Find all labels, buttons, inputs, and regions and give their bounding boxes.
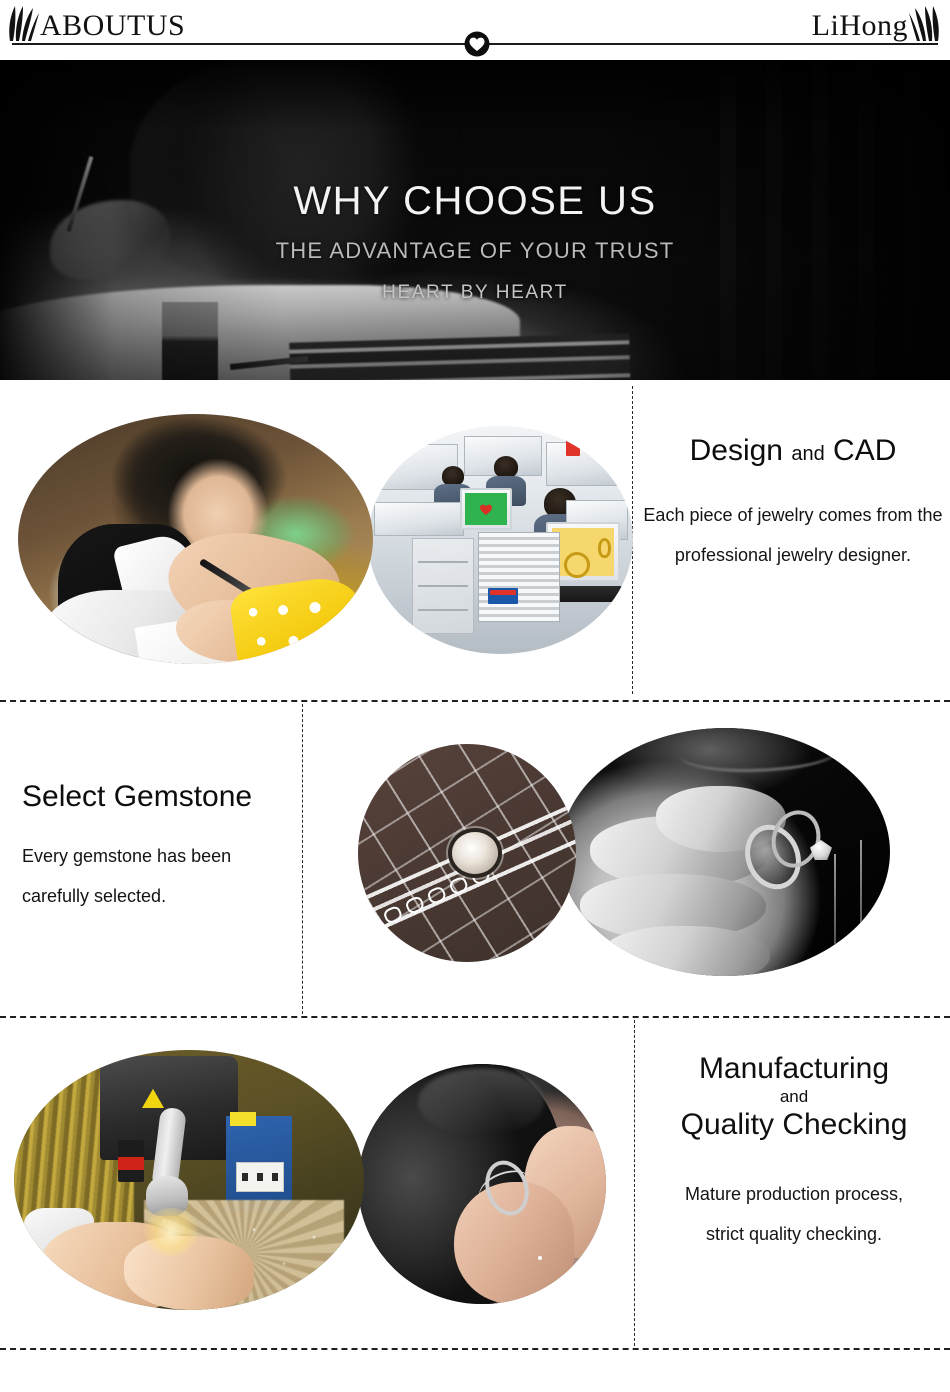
feature-text-design-and-cad: Design and CAD Each piece of jewelry com… (636, 432, 950, 575)
brand-left[interactable]: ABOUTUS (6, 6, 185, 42)
feature-divider-horizontal (0, 700, 950, 702)
feature-divider-horizontal-bottom (0, 1348, 950, 1350)
brand-right[interactable]: LiHong (812, 6, 942, 42)
site-header: ABOUTUS LiHong (0, 0, 950, 60)
leaf-ornament-icon (6, 4, 40, 42)
feature-text-manufacturing-quality: Manufacturing and Quality Checking Matur… (638, 1052, 950, 1254)
hero-tagline: HEART BY HEART (0, 282, 950, 304)
hero-subtitle: THE ADVANTAGE OF YOUR TRUST (0, 238, 950, 264)
feature-divider-vertical (634, 1020, 635, 1346)
feature-body-line-2: strict quality checking. (638, 1214, 950, 1254)
feature-title: Design and CAD (636, 432, 950, 473)
feature-body: Every gemstone has been carefully select… (8, 836, 298, 916)
hero-banner: WHY CHOOSE US THE ADVANTAGE OF YOUR TRUS… (0, 60, 950, 380)
feature-row-select-gemstone: Select Gemstone Every gemstone has been … (0, 700, 950, 1016)
feature-sections: Design and CAD Each piece of jewelry com… (0, 380, 950, 1348)
feature-divider-vertical (302, 704, 303, 1014)
feature-body-line-1: Mature production process, (638, 1174, 950, 1214)
gemstone-tweezers-sepia-photo (358, 744, 576, 962)
feature-row-manufacturing-quality: Manufacturing and Quality Checking Matur… (0, 1016, 950, 1348)
feature-title: Manufacturing and Quality Checking (638, 1052, 950, 1142)
cad-design-office-photo (368, 426, 633, 654)
leaf-ornament-icon (908, 4, 942, 42)
brand-right-label: LiHong (812, 10, 908, 42)
brand-left-label: ABOUTUS (40, 10, 185, 42)
heart-medallion-icon (464, 31, 490, 57)
feature-divider-horizontal (0, 1016, 950, 1018)
ring-inspection-loupe-photo (358, 1064, 606, 1304)
feature-text-select-gemstone: Select Gemstone Every gemstone has been … (8, 778, 298, 916)
hero-copy: WHY CHOOSE US THE ADVANTAGE OF YOUR TRUS… (0, 178, 950, 304)
feature-row-design-and-cad: Design and CAD Each piece of jewelry com… (0, 380, 950, 700)
hero-title: WHY CHOOSE US (0, 178, 950, 224)
hand-holding-ring-bw-photo (560, 728, 890, 976)
laser-welding-workstation-photo (14, 1050, 364, 1310)
feature-title: Select Gemstone (8, 778, 298, 816)
jewelry-designer-with-ring-gauge-photo (18, 414, 373, 664)
feature-body: Each piece of jewelry comes from the pro… (636, 495, 950, 575)
heart-icon (478, 501, 494, 517)
